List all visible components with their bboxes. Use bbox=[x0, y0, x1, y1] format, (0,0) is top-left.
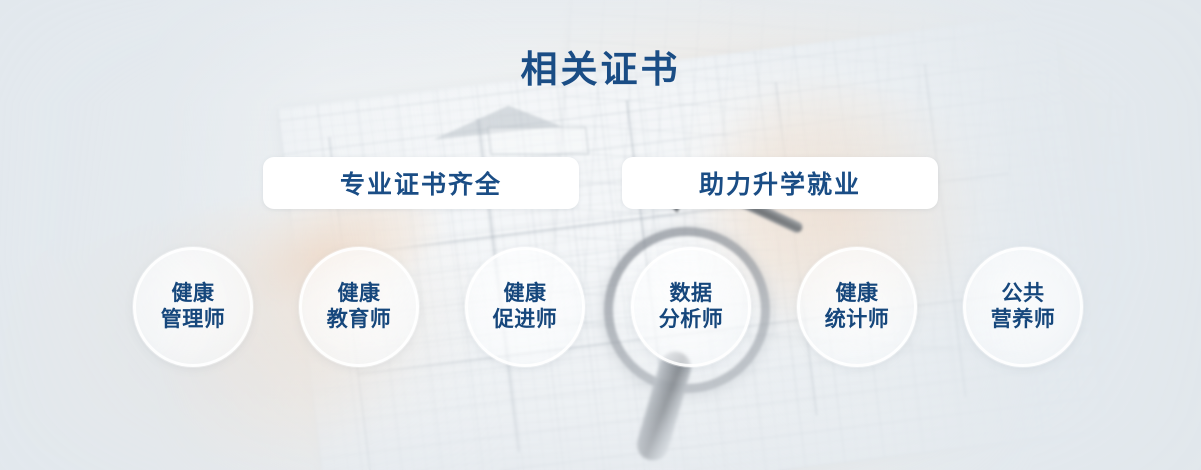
certificate-badge-public-nutritionist[interactable]: 公共 营养师 bbox=[963, 247, 1083, 367]
certificate-badge-row: 健康 管理师 健康 教育师 健康 促进师 数据 分析师 健康 统计师 公共 bbox=[0, 247, 1201, 363]
badge-label-line2: 统计师 bbox=[825, 307, 890, 333]
certificate-badge-health-manager[interactable]: 健康 管理师 bbox=[133, 247, 253, 367]
badge-label-line1: 健康 bbox=[836, 281, 879, 307]
banner-content: 相关证书 专业证书齐全 助力升学就业 健康 管理师 健康 教育师 健康 促进师 … bbox=[0, 0, 1201, 470]
badge-label-line2: 教育师 bbox=[327, 307, 392, 333]
badge-label-line1: 健康 bbox=[338, 281, 381, 307]
badge-label-line2: 管理师 bbox=[161, 307, 226, 333]
page-title: 相关证书 bbox=[0, 51, 1201, 88]
badge-label-line1: 公共 bbox=[1002, 281, 1045, 307]
badge-label-line1: 数据 bbox=[670, 281, 713, 307]
certificate-badge-data-analyst[interactable]: 数据 分析师 bbox=[631, 247, 751, 367]
certificates-banner: 相关证书 专业证书齐全 助力升学就业 健康 管理师 健康 教育师 健康 促进师 … bbox=[0, 0, 1201, 470]
highlight-pill-education-employment[interactable]: 助力升学就业 bbox=[622, 157, 938, 209]
highlight-pill-row: 专业证书齐全 助力升学就业 bbox=[263, 157, 938, 209]
certificate-badge-health-educator[interactable]: 健康 教育师 bbox=[299, 247, 419, 367]
badge-label-line2: 分析师 bbox=[659, 307, 724, 333]
highlight-pill-professional-certificates[interactable]: 专业证书齐全 bbox=[263, 157, 579, 209]
badge-label-line2: 营养师 bbox=[991, 307, 1056, 333]
badge-label-line1: 健康 bbox=[504, 281, 547, 307]
badge-label-line2: 促进师 bbox=[493, 307, 558, 333]
certificate-badge-health-promoter[interactable]: 健康 促进师 bbox=[465, 247, 585, 367]
badge-label-line1: 健康 bbox=[172, 281, 215, 307]
certificate-badge-health-statistician[interactable]: 健康 统计师 bbox=[797, 247, 917, 367]
